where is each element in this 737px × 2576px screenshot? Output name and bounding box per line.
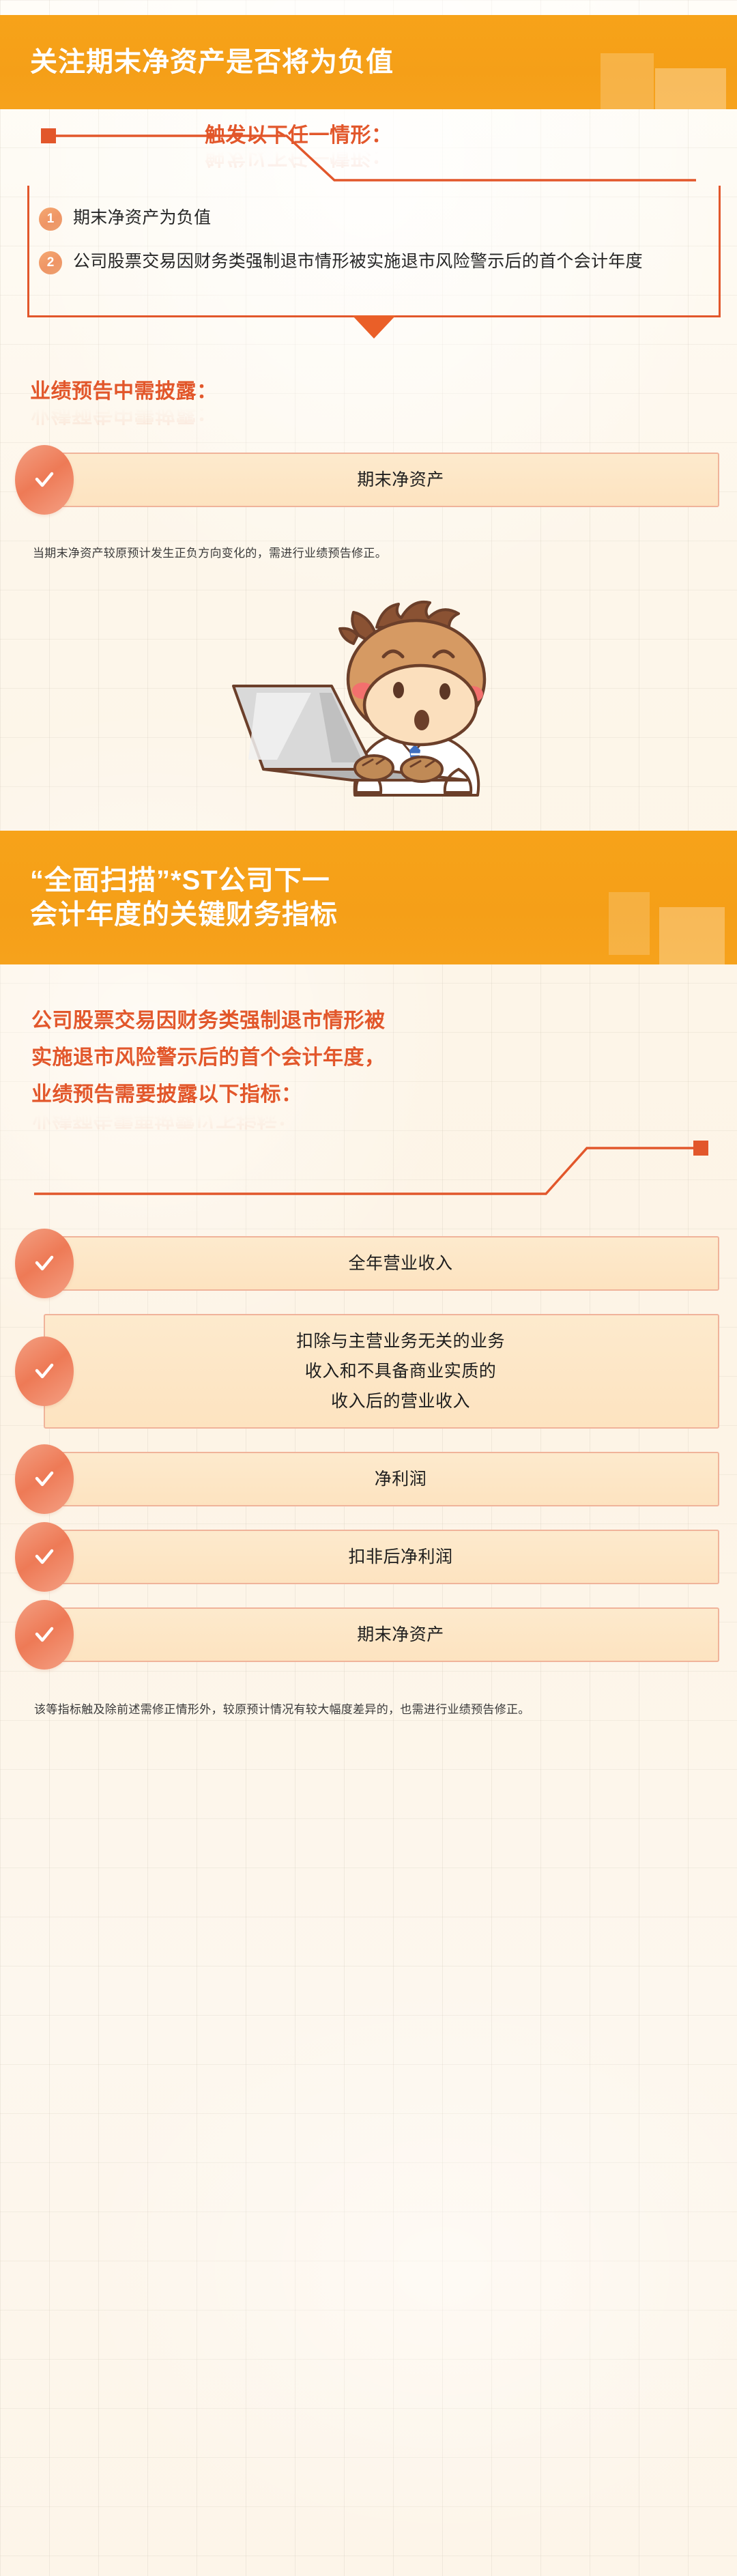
trigger-list-item: 1 期末净资产为负值: [39, 205, 705, 231]
section2-intro-line1: 公司股票交易因财务类强制退市情形被: [31, 1003, 737, 1040]
trigger-item-number-badge: 1: [39, 207, 62, 231]
check-icon: [15, 1336, 74, 1406]
checklist-label: 期末净资产: [357, 465, 444, 495]
checklist-row[interactable]: 期末净资产: [15, 453, 719, 507]
section2-intro-group: 公司股票交易因财务类强制退市情形被 实施退市风险警示后的首个会计年度， 业绩预告…: [0, 964, 737, 1136]
disclose-heading: 业绩预告中需披露：: [30, 376, 737, 407]
checklist-label-line: 收入和不具备商业实质的: [296, 1356, 505, 1386]
trigger-list-item: 2 公司股票交易因财务类强制退市情形被实施退市风险警示后的首个会计年度: [39, 248, 705, 274]
checklist-row[interactable]: 净利润: [15, 1452, 719, 1506]
checklist-card: 扣非后净利润: [44, 1530, 719, 1584]
section2-title-line2: 会计年度的关键财务指标: [30, 898, 737, 932]
section2-note-wrap: 该等指标触及除前述需修正情形外，较原预计情况有较大幅度差异的，也需进行业绩预告修…: [0, 1685, 737, 1762]
section2-title: “全面扫描”*ST公司下一 会计年度的关键财务指标: [0, 831, 737, 964]
check-icon: [15, 1444, 74, 1514]
checklist-card: 净利润: [44, 1452, 719, 1506]
checklist-label: 全年营业收入: [348, 1248, 452, 1278]
checklist-label: 期末净资产: [357, 1620, 444, 1650]
section1-banner: 关注期末净资产是否将为负值: [0, 15, 737, 109]
checklist-card: 期末净资产: [44, 1607, 719, 1662]
bull-with-laptop-illustration: [0, 564, 737, 831]
checklist-label: 净利润: [375, 1464, 427, 1494]
disclose-checklist: 期末净资产: [0, 428, 737, 507]
trigger-item-text: 公司股票交易因财务类强制退市情形被实施退市风险警示后的首个会计年度: [73, 248, 643, 274]
checklist-label-line: 收入后的营业收入: [296, 1386, 505, 1416]
infographic-page: 关注期末净资产是否将为负值 触发以下任一情形： 触发以下任一情形： 1 期末净资…: [0, 0, 737, 2576]
check-icon: [15, 445, 74, 515]
checklist-card: 全年营业收入: [44, 1236, 719, 1291]
trigger-item-text: 期末净资产为负值: [73, 205, 211, 231]
trigger-zone: 触发以下任一情形： 触发以下任一情形：: [0, 109, 737, 186]
section1-note: 当期末净资产较原预计发生正负方向变化的，需进行业绩预告修正。: [33, 543, 689, 564]
disclose-heading-reflection: 业绩预告中需披露：: [30, 407, 737, 428]
trigger-heading-group: 触发以下任一情形： 触发以下任一情形：: [205, 121, 491, 171]
checklist-row[interactable]: 期末净资产: [15, 1607, 719, 1662]
section1-title: 关注期末净资产是否将为负值: [0, 15, 737, 109]
section2-intro-reflection: 业绩预告需要披露以下指标：: [31, 1113, 737, 1136]
section2-intro-line3: 业绩预告需要披露以下指标：: [31, 1076, 737, 1113]
section2-banner: “全面扫描”*ST公司下一 会计年度的关键财务指标: [0, 831, 737, 964]
trigger-list-box: 1 期末净资产为负值 2 公司股票交易因财务类强制退市情形被实施退市风险警示后的…: [27, 186, 721, 317]
section2-note: 该等指标触及除前述需修正情形外，较原预计情况有较大幅度差异的，也需进行业绩预告修…: [34, 1699, 684, 1721]
section2-bracket-zone: [0, 1136, 737, 1205]
checklist-card: 扣除与主营业务无关的业务 收入和不具备商业实质的 收入后的营业收入: [44, 1314, 719, 1429]
checklist-row[interactable]: 扣非后净利润: [15, 1530, 719, 1584]
checklist-row[interactable]: 扣除与主营业务无关的业务 收入和不具备商业实质的 收入后的营业收入: [15, 1314, 719, 1429]
checklist-label-multiline: 扣除与主营业务无关的业务 收入和不具备商业实质的 收入后的营业收入: [296, 1326, 505, 1416]
triangle-down-icon: [352, 315, 396, 339]
checklist-label-line: 扣除与主营业务无关的业务: [296, 1326, 505, 1356]
indicator-checklist: 全年营业收入 扣除与主营业务无关的业务 收入和不具备商业实质的 收入后的营业收入: [0, 1205, 737, 1662]
check-icon: [15, 1229, 74, 1298]
checklist-row[interactable]: 全年营业收入: [15, 1236, 719, 1291]
section2-intro: 公司股票交易因财务类强制退市情形被 实施退市风险警示后的首个会计年度， 业绩预告…: [31, 1003, 737, 1113]
section2-title-line1: “全面扫描”*ST公司下一: [30, 863, 737, 898]
checklist-card: 期末净资产: [44, 453, 719, 507]
section1-note-wrap: 当期末净资产较原预计发生正负方向变化的，需进行业绩预告修正。: [0, 530, 737, 564]
section1-title-text: 关注期末净资产是否将为负值: [30, 45, 737, 79]
bracket-decoration-icon: [0, 1136, 737, 1205]
check-icon: [15, 1522, 74, 1592]
checklist-label: 扣非后净利润: [348, 1542, 452, 1572]
page-content: 关注期末净资产是否将为负值 触发以下任一情形： 触发以下任一情形： 1 期末净资…: [0, 15, 737, 1762]
trigger-heading: 触发以下任一情形：: [205, 121, 491, 150]
trigger-heading-reflection: 触发以下任一情形：: [205, 150, 491, 171]
section2-intro-line2: 实施退市风险警示后的首个会计年度，: [31, 1040, 737, 1076]
check-icon: [15, 1600, 74, 1670]
trigger-item-number-badge: 2: [39, 251, 62, 274]
